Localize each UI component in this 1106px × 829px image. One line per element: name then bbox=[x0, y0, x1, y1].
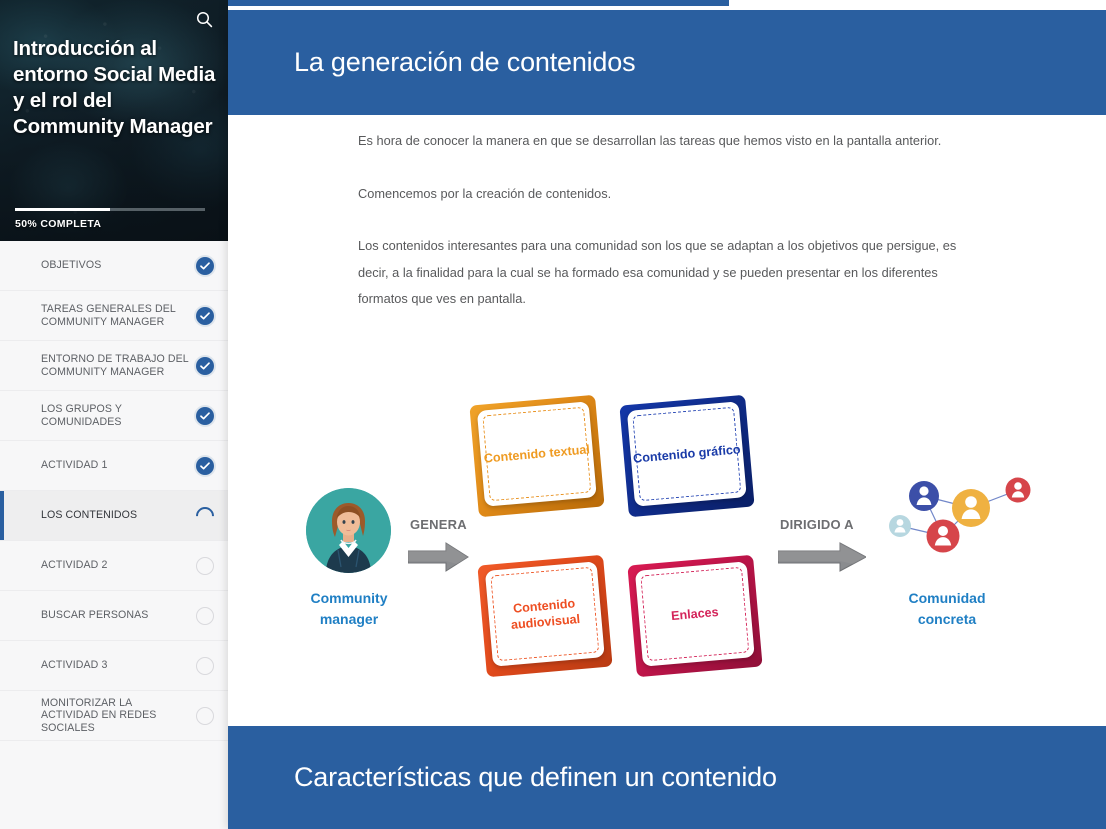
course-player-page: Introducción al entorno Social Media y e… bbox=[0, 0, 1106, 829]
arrow-genera: GENERA bbox=[408, 533, 470, 577]
sidebar-item-tareas-generales[interactable]: TAREAS GENERALES DEL COMMUNITY MANAGER bbox=[0, 291, 228, 341]
arrow-dirigido-label: DIRIGIDO A bbox=[780, 517, 854, 532]
sidebar-item-actividad-3[interactable]: ACTIVIDAD 3 bbox=[0, 641, 228, 691]
sidebar-item-buscar-personas[interactable]: BUSCAR PERSONAS bbox=[0, 591, 228, 641]
comunidad-concreta-label: Comunidad concreta bbox=[886, 588, 1008, 630]
card-contenido-grafico: Contenido gráfico bbox=[619, 395, 754, 518]
card-face: Contenido gráfico bbox=[627, 401, 747, 506]
status-incomplete-icon bbox=[196, 557, 214, 575]
paragraph: Los contenidos interesantes para una com… bbox=[358, 233, 978, 313]
community-network-graphic bbox=[878, 476, 1048, 586]
section-banner-bottom: Características que definen un contenido bbox=[228, 726, 1106, 829]
sidebar-item-los-contenidos[interactable]: LOS CONTENIDOS bbox=[0, 491, 228, 541]
course-title: Introducción al entorno Social Media y e… bbox=[13, 36, 216, 140]
lesson-label: ENTORNO DE TRABAJO DEL COMMUNITY MANAGER bbox=[41, 353, 196, 378]
status-complete-icon bbox=[196, 307, 214, 325]
lesson-label: ACTIVIDAD 1 bbox=[41, 459, 196, 472]
status-complete-icon bbox=[196, 457, 214, 475]
status-incomplete-icon bbox=[196, 607, 214, 625]
status-in-progress-icon bbox=[192, 503, 217, 528]
community-manager-avatar bbox=[306, 488, 391, 573]
card-face: Contenido textual bbox=[477, 401, 597, 506]
sidebar-item-actividad-1[interactable]: ACTIVIDAD 1 bbox=[0, 441, 228, 491]
lesson-label: TAREAS GENERALES DEL COMMUNITY MANAGER bbox=[41, 303, 196, 328]
paragraph: Es hora de conocer la manera en que se d… bbox=[358, 128, 978, 155]
page-title: La generación de contenidos bbox=[228, 47, 635, 78]
arrow-genera-label: GENERA bbox=[410, 517, 467, 532]
search-icon[interactable] bbox=[191, 6, 217, 32]
section-banner-top: La generación de contenidos bbox=[228, 10, 1106, 115]
sidebar-item-grupos-comunidades[interactable]: LOS GRUPOS Y COMUNIDADES bbox=[0, 391, 228, 441]
sidebar-item-entorno-trabajo[interactable]: ENTORNO DE TRABAJO DEL COMMUNITY MANAGER bbox=[0, 341, 228, 391]
lesson-label: BUSCAR PERSONAS bbox=[41, 609, 196, 622]
arrow-dirigido-a: DIRIGIDO A bbox=[778, 533, 866, 577]
status-complete-icon bbox=[196, 407, 214, 425]
lesson-label: OBJETIVOS bbox=[41, 259, 196, 272]
paragraph: Comencemos por la creación de contenidos… bbox=[358, 181, 978, 208]
lesson-label: ACTIVIDAD 3 bbox=[41, 659, 196, 672]
sidebar-item-objetivos[interactable]: OBJETIVOS bbox=[0, 241, 228, 291]
lesson-label: LOS CONTENIDOS bbox=[41, 509, 196, 522]
community-manager-label: Community manager bbox=[288, 588, 410, 630]
card-enlaces: Enlaces bbox=[627, 555, 762, 678]
lesson-list: OBJETIVOS TAREAS GENERALES DEL COMMUNITY… bbox=[0, 241, 228, 741]
course-hero: Introducción al entorno Social Media y e… bbox=[0, 0, 228, 241]
next-section-title: Características que definen un contenido bbox=[228, 762, 777, 793]
lesson-label: ACTIVIDAD 2 bbox=[41, 559, 196, 572]
lesson-content: La generación de contenidos Es hora de c… bbox=[228, 0, 1106, 829]
card-contenido-audiovisual: Contenido audiovisual bbox=[477, 555, 612, 678]
progress-fill bbox=[15, 208, 110, 211]
top-accent-rule bbox=[228, 0, 729, 6]
card-contenido-textual: Contenido textual bbox=[469, 395, 604, 518]
status-incomplete-icon bbox=[196, 657, 214, 675]
course-progress: 50% COMPLETA bbox=[15, 208, 207, 230]
card-face: Enlaces bbox=[635, 561, 755, 666]
card-face: Contenido audiovisual bbox=[485, 561, 605, 666]
sidebar-item-actividad-2[interactable]: ACTIVIDAD 2 bbox=[0, 541, 228, 591]
status-complete-icon bbox=[196, 357, 214, 375]
status-complete-icon bbox=[196, 257, 214, 275]
progress-track bbox=[15, 208, 205, 211]
content-flow-diagram: Community manager GENERA Contenido textu… bbox=[228, 378, 1106, 718]
lesson-body-text: Es hora de conocer la manera en que se d… bbox=[358, 128, 978, 313]
course-sidebar: Introducción al entorno Social Media y e… bbox=[0, 0, 228, 829]
progress-label: 50% COMPLETA bbox=[15, 218, 207, 230]
sidebar-item-monitorizar-actividad[interactable]: MONITORIZAR LA ACTIVIDAD EN REDES SOCIAL… bbox=[0, 691, 228, 741]
lesson-label: MONITORIZAR LA ACTIVIDAD EN REDES SOCIAL… bbox=[41, 697, 196, 735]
lesson-label: LOS GRUPOS Y COMUNIDADES bbox=[41, 403, 196, 428]
status-incomplete-icon bbox=[196, 707, 214, 725]
